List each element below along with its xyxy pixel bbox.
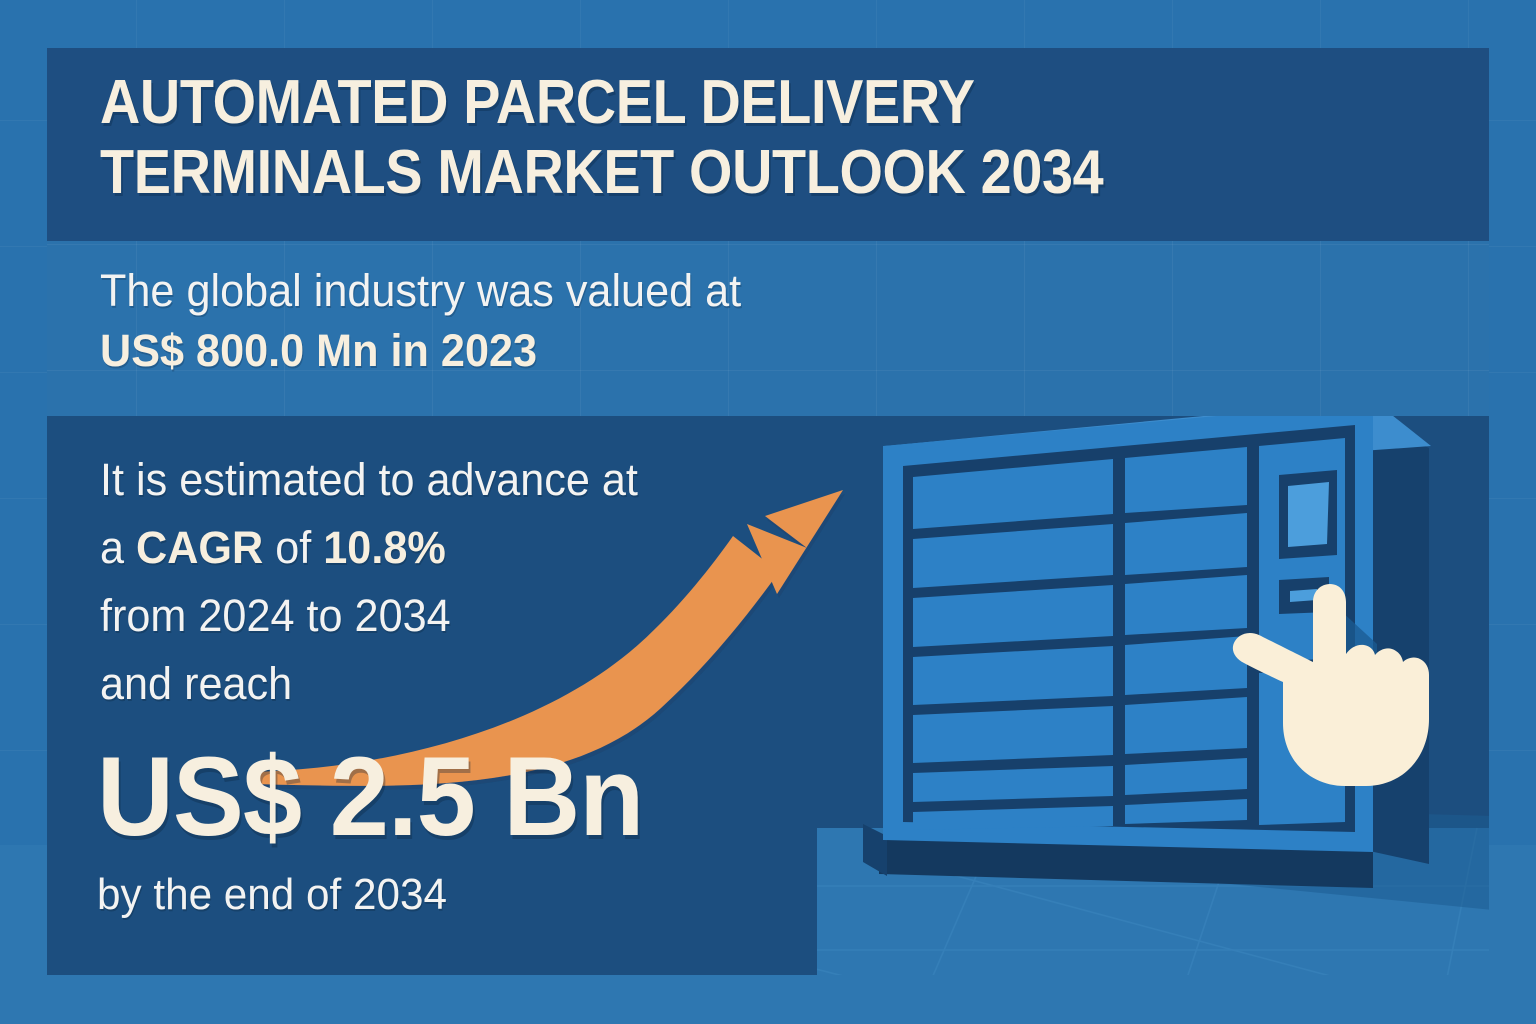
subtitle-band: The global industry was valued at US$ 80… [47,241,1489,416]
main-content-panel: It is estimated to advance at a CAGR of … [47,416,1489,975]
value-block: US$ 2.5 Bn by the end of 2034 [97,741,857,919]
subtitle-line-2-value: US$ 800.0 Mn in 2023 [100,321,868,381]
locker-door [1125,513,1247,575]
locker-door [913,706,1113,763]
locker-door [1125,636,1247,695]
subtitle-line-1: The global industry was valued at [100,261,868,321]
kiosk-screen-display [1288,482,1329,547]
cagr-keyword: CAGR [136,522,263,573]
market-value-caption: by the end of 2034 [97,871,827,919]
cagr-line-2-pre: a [100,522,136,573]
locker-door [1125,447,1247,513]
locker-side-face [1365,418,1429,864]
locker-door [1125,697,1247,754]
locker-door [1125,575,1247,635]
kiosk-card-slot [1290,589,1317,602]
header-band: AUTOMATED PARCEL DELIVERY TERMINALS MARK… [47,48,1489,241]
locker-column-divider [1115,458,1123,826]
page-title: AUTOMATED PARCEL DELIVERY TERMINALS MARK… [100,68,1306,208]
market-value-2034: US$ 2.5 Bn [97,741,819,853]
parcel-locker-illustration [817,416,1489,975]
infographic-canvas: AUTOMATED PARCEL DELIVERY TERMINALS MARK… [0,0,1536,1024]
subtitle-text-block: The global industry was valued at US$ 80… [100,261,900,381]
